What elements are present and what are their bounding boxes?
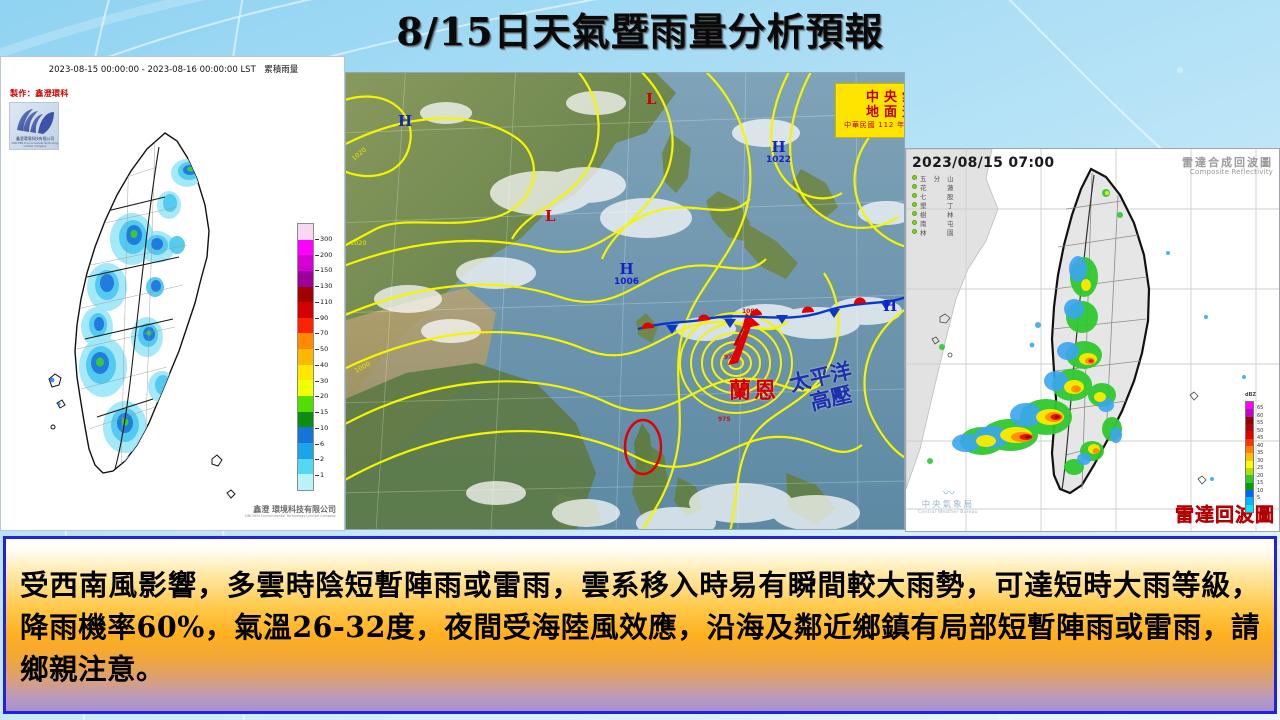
rainfall-color-swatch-2: [298, 255, 313, 271]
radar-tick-40: 40: [1257, 443, 1263, 449]
synoptic-satellite-map[interactable]: 975 975 1000: [346, 73, 905, 530]
rainfall-color-swatch-1: [298, 240, 313, 256]
radar-tick-50: 50: [1257, 428, 1263, 434]
radar-color-swatch-11: [1246, 483, 1253, 490]
forecast-text-box: 受西南風影響，多雲時陰短暫陣雨或雷雨，雲系移入時易有瞬間較大雨勢，可達短時大雨等…: [3, 536, 1277, 714]
rainfall-tick-20: 20: [320, 392, 328, 400]
rainfall-color-swatch-6: [298, 318, 313, 334]
cwb-org-name: 中央氣象局: [861, 91, 905, 106]
radar-color-swatch-1: [1246, 409, 1253, 416]
radar-color-swatch-9: [1246, 468, 1253, 475]
radar-color-swatch-12: [1246, 490, 1253, 497]
radar-product-en: Composite Reflectivity: [1182, 169, 1273, 177]
radar-tick-60: 60: [1257, 413, 1263, 419]
rainfall-tick-1: 1: [320, 471, 324, 479]
radar-colorbar-labels: 6560555045403530252015105: [1255, 401, 1273, 513]
rainfall-tick-15: 15: [320, 408, 328, 416]
radar-color-swatch-6: [1246, 446, 1253, 453]
pressure-marker-low-1: L: [646, 91, 657, 107]
radar-color-swatch-4: [1246, 431, 1253, 438]
radar-tick-25: 25: [1257, 465, 1263, 471]
rainfall-tick-10: 10: [320, 424, 328, 432]
rainfall-color-swatch-14: [298, 443, 313, 459]
radar-tick-65: 65: [1257, 405, 1263, 411]
rainfall-tick-300: 300: [320, 235, 332, 243]
radar-color-swatch-13: [1246, 497, 1253, 504]
svg-text:1020: 1020: [350, 239, 367, 247]
pressure-marker-high-2: H: [883, 298, 897, 314]
forecast-text: 受西南風影響，多雲時陰短暫陣雨或雷雨，雲系移入時易有瞬間較大雨勢，可達短時大雨等…: [20, 564, 1260, 691]
radar-station-name: 林 園: [920, 227, 956, 237]
radar-tick-5: 5: [1257, 495, 1260, 501]
rainfall-colorbar-gradient: [297, 223, 314, 491]
rainfall-colorbar: 3002001501301109070504030201510621: [297, 223, 343, 491]
pressure-marker-high-1022: H1022: [766, 139, 791, 165]
pressure-marker-high-1006: H1006: [614, 261, 639, 287]
pressure-value-1022: 1022: [766, 156, 791, 165]
rainfall-color-swatch-0: [298, 224, 313, 240]
rainfall-tick-2: 2: [320, 455, 324, 463]
rainfall-tick-6: 6: [320, 440, 324, 448]
radar-tick-20: 20: [1257, 473, 1263, 479]
rainfall-color-swatch-8: [298, 349, 313, 365]
rainfall-color-swatch-13: [298, 427, 313, 443]
rainfall-color-swatch-3: [298, 271, 313, 287]
rainfall-tick-50: 50: [320, 345, 328, 353]
station-status-dot-icon: [912, 202, 917, 207]
rainfall-colorbar-labels: 3002001501301109070504030201510621: [315, 223, 343, 491]
rainfall-color-swatch-11: [298, 396, 313, 412]
radar-tick-55: 55: [1257, 420, 1263, 426]
rainfall-footer-en: SINCHEN Environmental Technology Limited…: [245, 515, 336, 518]
rainfall-color-swatch-5: [298, 302, 313, 318]
rainfall-color-swatch-7: [298, 333, 313, 349]
radar-color-swatch-0: [1246, 402, 1253, 409]
rainfall-tick-90: 90: [320, 314, 328, 322]
cwb-watermark-en: Central Weather Bureau: [918, 510, 978, 515]
radar-color-swatch-5: [1246, 439, 1253, 446]
rainfall-panel[interactable]: 2023-08-15 00:00:00 - 2023-08-16 00:00:0…: [0, 56, 345, 531]
rainfall-footer: 鑫澄 環境科技有限公司 SINCHEN Environmental Techno…: [245, 506, 336, 518]
radar-tick-30: 30: [1257, 458, 1263, 464]
station-status-dot-icon: [912, 211, 917, 216]
radar-color-swatch-10: [1246, 475, 1253, 482]
radar-panel[interactable]: 2023/08/15 07:00 雷達合成回波圖 Composite Refle…: [905, 148, 1280, 532]
station-status-dot-icon: [912, 193, 917, 198]
rainfall-color-swatch-15: [298, 459, 313, 475]
rainfall-title: 2023-08-15 00:00:00 - 2023-08-16 00:00:0…: [1, 63, 345, 75]
page-title-bar: 8/15日天氣暨雨量分析預報: [0, 0, 1280, 56]
rainfall-tick-150: 150: [320, 266, 332, 274]
rainfall-tick-70: 70: [320, 329, 328, 337]
rainfall-tick-40: 40: [320, 361, 328, 369]
cwb-chart-datetime: 中華民國 112 年 8 月 15 日 02 時: [844, 122, 905, 130]
rainfall-color-swatch-16: [298, 474, 313, 490]
cwb-header-box: 中央氣象局 地面天氣圖 中華民國 112 年 8 月 15 日 02 時: [835, 83, 905, 138]
radar-station-item[interactable]: 林 園: [912, 227, 980, 236]
pressure-marker-high-1: H: [398, 113, 412, 129]
pressure-value-1006: 1006: [614, 278, 639, 287]
cwb-watermark-cn: 中央氣象局: [918, 501, 978, 510]
radar-colorbar-unit: dBZ: [1245, 392, 1256, 398]
radar-tick-35: 35: [1257, 450, 1263, 456]
pressure-marker-low-2: L: [545, 208, 556, 224]
radar-colorbar: dBZ 6560555045403530252015105: [1243, 401, 1273, 521]
synoptic-chart-panel[interactable]: 975 975 1000: [345, 72, 905, 530]
station-status-dot-icon: [912, 175, 917, 180]
radar-color-swatch-3: [1246, 424, 1253, 431]
station-status-dot-icon: [912, 184, 917, 189]
page-title: 8/15日天氣暨雨量分析預報: [396, 1, 883, 56]
cwb-watermark: 〰 中央氣象局 Central Weather Bureau: [918, 487, 978, 515]
rainfall-color-swatch-10: [298, 380, 313, 396]
rainfall-color-swatch-4: [298, 287, 313, 303]
radar-tick-45: 45: [1257, 435, 1263, 441]
radar-color-swatch-14: [1246, 505, 1253, 512]
station-status-dot-icon: [912, 229, 917, 234]
taiwan-rainfall-map[interactable]: [37, 127, 247, 522]
rainfall-color-swatch-12: [298, 412, 313, 428]
radar-color-swatch-8: [1246, 461, 1253, 468]
typhoon-name-label: 蘭恩: [729, 373, 779, 405]
svg-text:975: 975: [718, 416, 731, 423]
radar-station-list[interactable]: 五 分 山花 蓮七 股墾 丁樹 林南 屯林 園: [912, 173, 980, 236]
rainfall-tick-30: 30: [320, 377, 328, 385]
cwb-bird-icon: 〰: [918, 487, 978, 500]
rainfall-tick-200: 200: [320, 251, 332, 259]
radar-product-label: 雷達合成回波圖 Composite Reflectivity: [1182, 157, 1273, 177]
radar-timestamp: 2023/08/15 07:00: [912, 155, 1054, 171]
rainfall-credit: 製作：鑫澄環科: [10, 88, 69, 99]
radar-tick-10: 10: [1257, 488, 1263, 494]
rainfall-color-swatch-9: [298, 365, 313, 381]
cwb-chart-name: 地面天氣圖: [861, 106, 905, 121]
rainfall-tick-110: 110: [320, 298, 332, 306]
radar-color-swatch-2: [1246, 417, 1253, 424]
rainfall-tick-130: 130: [320, 282, 332, 290]
station-status-dot-icon: [912, 220, 917, 225]
radar-colorbar-gradient: [1245, 401, 1254, 513]
radar-tick-15: 15: [1257, 480, 1263, 486]
radar-color-swatch-7: [1246, 453, 1253, 460]
